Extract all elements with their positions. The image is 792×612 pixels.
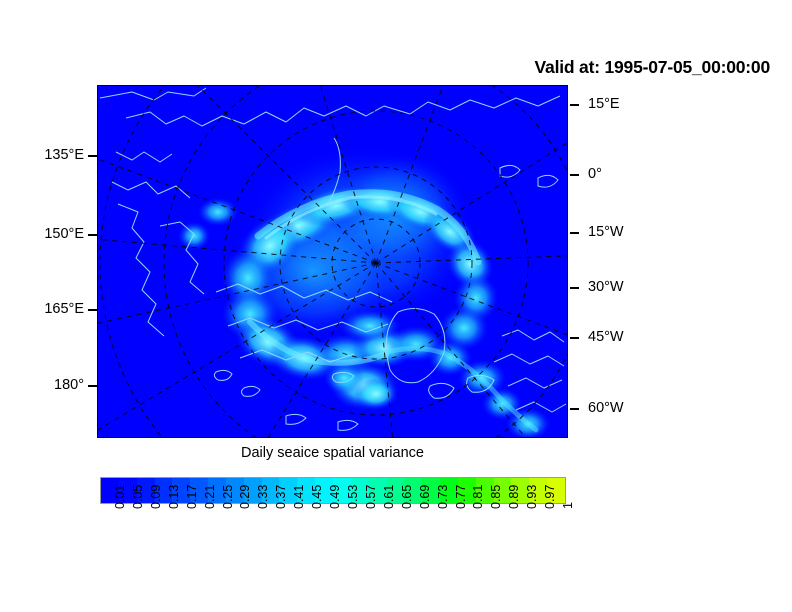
colorbar-tick-label-10: 0.41 [293, 485, 306, 509]
colorbar-tick-label-16: 0.65 [401, 485, 414, 509]
colorbar-tick-label-23: 0.93 [526, 485, 539, 509]
left-tick-3 [88, 385, 97, 387]
left-tick-0 [88, 155, 97, 157]
right-axis-label-0: 0° [588, 167, 602, 182]
colorbar-tick-label-17: 0.69 [419, 485, 432, 509]
left-axis-label-165E: 165°E [0, 302, 84, 317]
colorbar-tick-label-11: 0.45 [311, 485, 324, 509]
right-axis-label-30W: 30°W [588, 280, 624, 295]
colorbar-tick-label-24: 0.97 [544, 485, 557, 509]
colorbar-tick-label-7: 0.29 [239, 485, 252, 509]
colorbar-tick-label-8: 0.33 [257, 485, 270, 509]
right-axis-label-60W: 60°W [588, 401, 624, 416]
map-caption: Daily seaice spatial variance [97, 445, 568, 461]
map-plot-area[interactable] [97, 85, 568, 438]
colorbar-tick-label-1: 0.05 [132, 485, 145, 509]
left-tick-2 [88, 309, 97, 311]
right-tick-5 [570, 408, 579, 410]
colorbar-tick-label-3: 0.13 [168, 485, 181, 509]
colorbar-tick-label-12: 0.49 [329, 485, 342, 509]
left-axis-label-150E: 150°E [0, 227, 84, 242]
figure-canvas: Valid at: 1995-07-05_00:00:00 [0, 0, 792, 612]
right-tick-0 [570, 104, 579, 106]
colorbar-tick-label-14: 0.57 [365, 485, 378, 509]
colorbar-tick-label-6: 0.25 [222, 485, 235, 509]
colorbar-tick-label-21: 0.85 [490, 485, 503, 509]
right-axis-label-45W: 45°W [588, 330, 624, 345]
right-axis-label-15E: 15°E [588, 97, 620, 112]
colorbar[interactable]: 0.010.050.090.130.170.210.250.290.330.37… [100, 477, 566, 504]
left-axis-label-180: 180° [0, 378, 84, 393]
right-tick-1 [570, 174, 579, 176]
colorbar-tick-label-20: 0.81 [472, 485, 485, 509]
colorbar-tick-label-22: 0.89 [508, 485, 521, 509]
right-tick-3 [570, 287, 579, 289]
colorbar-tick-label-15: 0.61 [383, 485, 396, 509]
page-title: Valid at: 1995-07-05_00:00:00 [440, 57, 770, 78]
colorbar-tick-label-13: 0.53 [347, 485, 360, 509]
colorbar-tick-label-25: 1 [562, 502, 575, 509]
right-tick-2 [570, 232, 579, 234]
colorbar-tick-label-9: 0.37 [275, 485, 288, 509]
colorbar-tick-label-19: 0.77 [455, 485, 468, 509]
colorbar-tick-label-5: 0.21 [204, 485, 217, 509]
colorbar-tick-label-0: 0.01 [114, 485, 127, 509]
colorbar-tick-label-4: 0.17 [186, 485, 199, 509]
map-svg [98, 86, 567, 437]
colorbar-tick-label-18: 0.73 [437, 485, 450, 509]
left-axis-label-135E: 135°E [0, 148, 84, 163]
colorbar-tick-label-2: 0.09 [150, 485, 163, 509]
right-axis-label-15W: 15°W [588, 225, 624, 240]
left-tick-1 [88, 234, 97, 236]
right-tick-4 [570, 337, 579, 339]
